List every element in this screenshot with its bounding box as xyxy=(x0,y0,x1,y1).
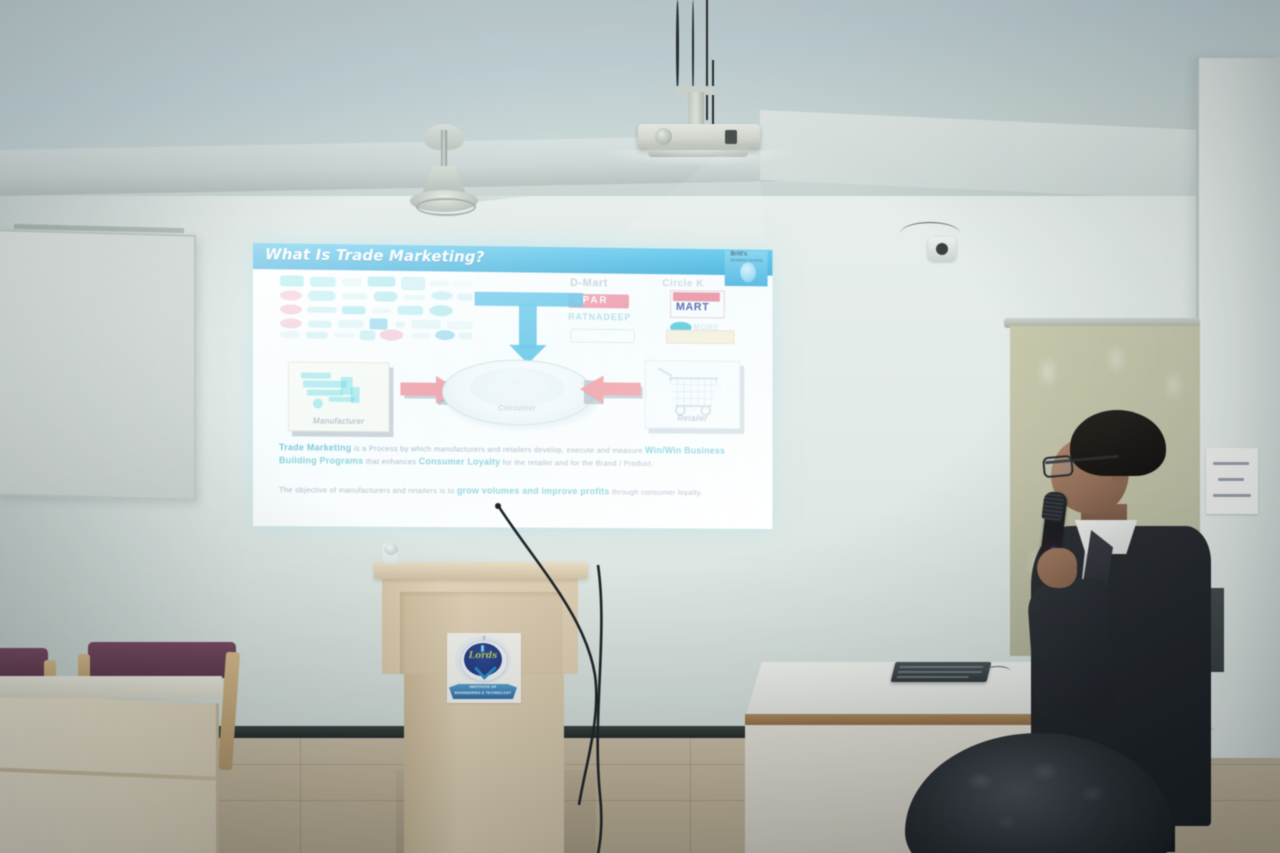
para1-text-d: that enhances xyxy=(363,457,418,466)
foreground-desk-top xyxy=(0,676,222,698)
computer-keyboard[interactable] xyxy=(891,662,992,682)
para1-highlight-loyalty: Consumer Loyalty xyxy=(419,456,501,467)
glasses-lens xyxy=(1042,455,1074,479)
retailer-logo-circlek: Circle K xyxy=(662,278,704,289)
projector-cable xyxy=(692,0,694,96)
lecture-hall-photo: What Is Trade Marketing? Britt's BUSINES… xyxy=(0,0,1280,853)
presenter-arm xyxy=(1026,577,1116,722)
podium-top xyxy=(374,562,588,579)
projector-port xyxy=(725,130,737,144)
projector-glow xyxy=(600,150,800,166)
retailer-label: Retailer xyxy=(646,413,740,423)
manufacturer-brand-logos xyxy=(280,275,474,339)
projector-lens-icon xyxy=(655,128,672,145)
retailer-logo-ratnadeep: RATNADEEP xyxy=(568,312,631,323)
wall-camera-icon xyxy=(928,237,956,261)
auditorium-seat xyxy=(0,648,48,678)
para1-text-b: is a Process by which manufacturers and … xyxy=(351,444,645,455)
emblem-banner-line1: INSTITUTE OF xyxy=(449,685,517,689)
projector-cable xyxy=(676,0,679,92)
retailer-card: Retailer xyxy=(645,360,741,429)
slide-logo-subtext: BUSINESS SCHOOL xyxy=(731,258,764,262)
para1-highlight-trade-marketing: Trade Marketing xyxy=(279,442,352,453)
slide-logo-text: Britt's xyxy=(731,251,748,257)
para1-text-f: for the retailer and for the Brand / Pro… xyxy=(500,458,653,468)
institute-emblem: Lords INSTITUTE OF ENGINEERING & TECHNOL… xyxy=(447,633,521,703)
para2-text-c: through consumer loyalty. xyxy=(610,487,703,497)
para2-highlight-grow: grow volumes and improve profits xyxy=(457,485,610,496)
left-wall-whiteboard xyxy=(0,229,196,501)
para2-text-a: The objective of manufacturers and retai… xyxy=(279,485,457,495)
flow-arrow-stem xyxy=(519,304,537,348)
manufacturer-label: Manufacturer xyxy=(289,416,389,426)
mic-stand-head xyxy=(384,543,398,555)
cart-handle xyxy=(658,367,673,376)
manufacturer-card: Manufacturer xyxy=(288,361,389,432)
podium-cable xyxy=(582,565,622,853)
slide-paragraph-1: Trade Marketing is a Process by which ma… xyxy=(279,441,742,470)
slide-title: What Is Trade Marketing? xyxy=(265,245,484,266)
retailer-logo-mart: MART xyxy=(676,301,709,313)
retailer-brand-logos: D-Mart Circle K SPAR MART RATNADEEP MORE xyxy=(568,277,754,341)
arrow-retailer-to-consumer xyxy=(580,374,641,404)
emblem-banner-line2: ENGINEERING & TECHNOLOGY xyxy=(449,691,517,695)
fan-downrod xyxy=(441,130,447,170)
projected-slide: What Is Trade Marketing? Britt's BUSINES… xyxy=(253,243,772,529)
consumer-label: Consumer xyxy=(442,403,592,413)
keyboard-cable xyxy=(985,666,1011,677)
auditorium-seat xyxy=(88,642,236,678)
fan-ring xyxy=(416,198,476,216)
microphone-grill xyxy=(1041,491,1064,521)
retailer-logo-dmart: D-Mart xyxy=(570,277,608,289)
mic-cable-tip xyxy=(495,503,501,509)
retailer-logo-box xyxy=(570,329,635,344)
presenter-hair xyxy=(1070,410,1166,476)
shopping-cart-icon xyxy=(669,377,718,407)
retailer-logo-vijetha xyxy=(666,330,734,345)
presenter-hand xyxy=(1037,548,1077,588)
